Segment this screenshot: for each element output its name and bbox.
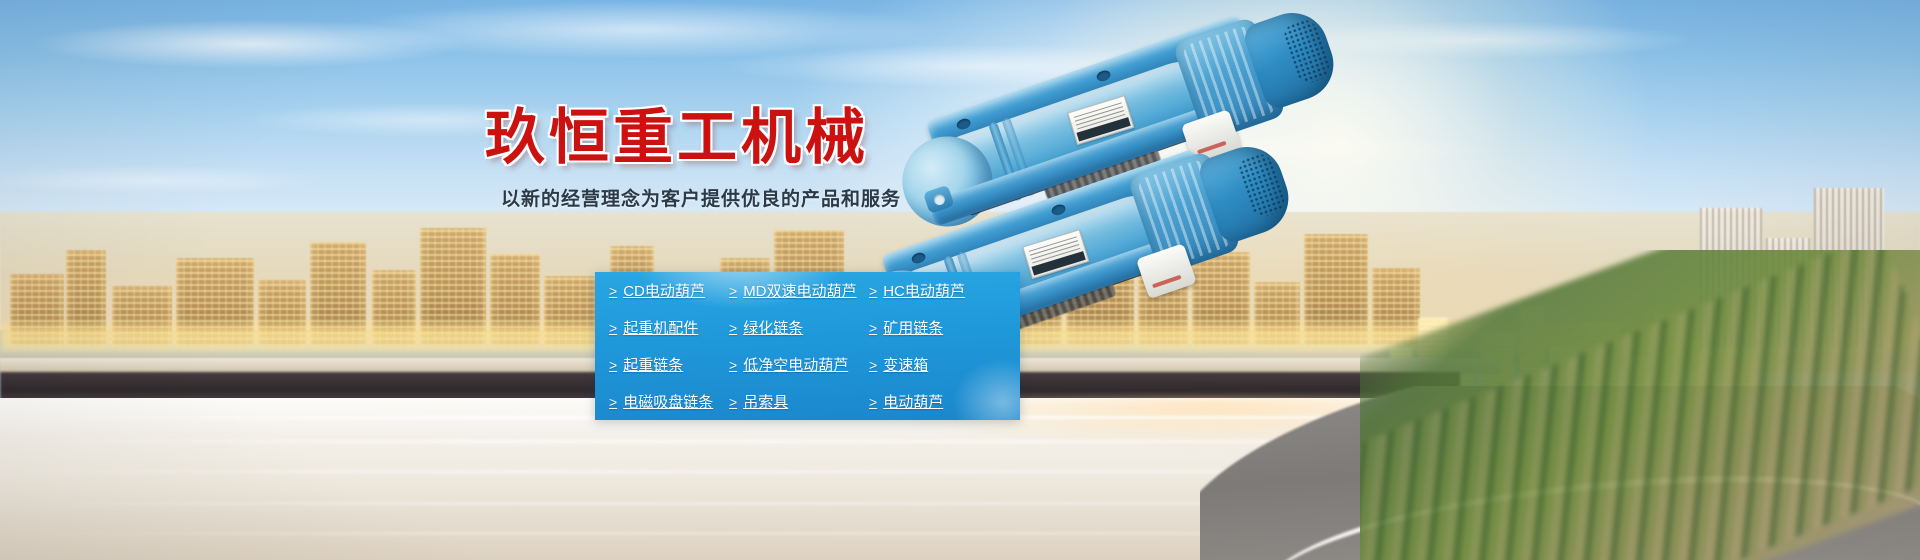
chevron-right-icon: > xyxy=(609,320,617,336)
product-link-hc-hoist[interactable]: > HC电动葫芦 xyxy=(855,280,1020,301)
chevron-right-icon: > xyxy=(729,357,737,373)
chevron-right-icon: > xyxy=(609,394,617,410)
product-link-magnetic-chain[interactable]: > 电磁吸盘链条 xyxy=(595,391,715,412)
product-label: MD双速电动葫芦 xyxy=(743,280,856,301)
chevron-right-icon: > xyxy=(869,394,877,410)
product-link-electric-hoist[interactable]: > 电动葫芦 xyxy=(855,391,1020,412)
banner-text-block: 玖恒重工机械 以新的经营理念为客户提供优良的产品和服务 xyxy=(485,108,1045,211)
product-label: 起重链条 xyxy=(623,354,683,375)
product-label: 起重机配件 xyxy=(623,317,698,338)
chevron-right-icon: > xyxy=(729,394,737,410)
product-label: 绿化链条 xyxy=(743,317,803,338)
product-link-md-hoist[interactable]: > MD双速电动葫芦 xyxy=(715,280,855,301)
product-label: 电动葫芦 xyxy=(883,391,943,412)
chevron-right-icon: > xyxy=(609,283,617,299)
hero-banner: 玖恒重工机械 以新的经营理念为客户提供优良的产品和服务 > CD电动葫芦 > M… xyxy=(0,0,1920,560)
product-label: 低净空电动葫芦 xyxy=(743,354,848,375)
chevron-right-icon: > xyxy=(869,320,877,336)
product-label: 电磁吸盘链条 xyxy=(623,391,713,412)
product-link-lifting-chain[interactable]: > 起重链条 xyxy=(595,354,715,375)
product-link-green-chain[interactable]: > 绿化链条 xyxy=(715,317,855,338)
product-link-gearbox[interactable]: > 变速箱 xyxy=(855,354,1020,375)
product-link-slings[interactable]: > 吊索具 xyxy=(715,391,855,412)
product-link-cd-hoist[interactable]: > CD电动葫芦 xyxy=(595,280,715,301)
company-tagline: 以新的经营理念为客户提供优良的产品和服务 xyxy=(501,184,1045,211)
chevron-right-icon: > xyxy=(869,283,877,299)
chevron-right-icon: > xyxy=(609,357,617,373)
product-link-crane-parts[interactable]: > 起重机配件 xyxy=(595,317,715,338)
product-label: HC电动葫芦 xyxy=(883,280,965,301)
chevron-right-icon: > xyxy=(729,320,737,336)
product-label: CD电动葫芦 xyxy=(623,280,705,301)
product-category-grid: > CD电动葫芦 > MD双速电动葫芦 > HC电动葫芦 > 起重机配件 > 绿… xyxy=(595,272,1020,420)
product-label: 矿用链条 xyxy=(883,317,943,338)
product-category-panel: > CD电动葫芦 > MD双速电动葫芦 > HC电动葫芦 > 起重机配件 > 绿… xyxy=(595,272,1020,420)
chevron-right-icon: > xyxy=(869,357,877,373)
company-headline: 玖恒重工机械 xyxy=(485,108,1045,168)
chevron-right-icon: > xyxy=(729,283,737,299)
product-link-mining-chain[interactable]: > 矿用链条 xyxy=(855,317,1020,338)
product-label: 变速箱 xyxy=(883,354,928,375)
product-link-low-headroom-hoist[interactable]: > 低净空电动葫芦 xyxy=(715,354,855,375)
product-label: 吊索具 xyxy=(743,391,788,412)
